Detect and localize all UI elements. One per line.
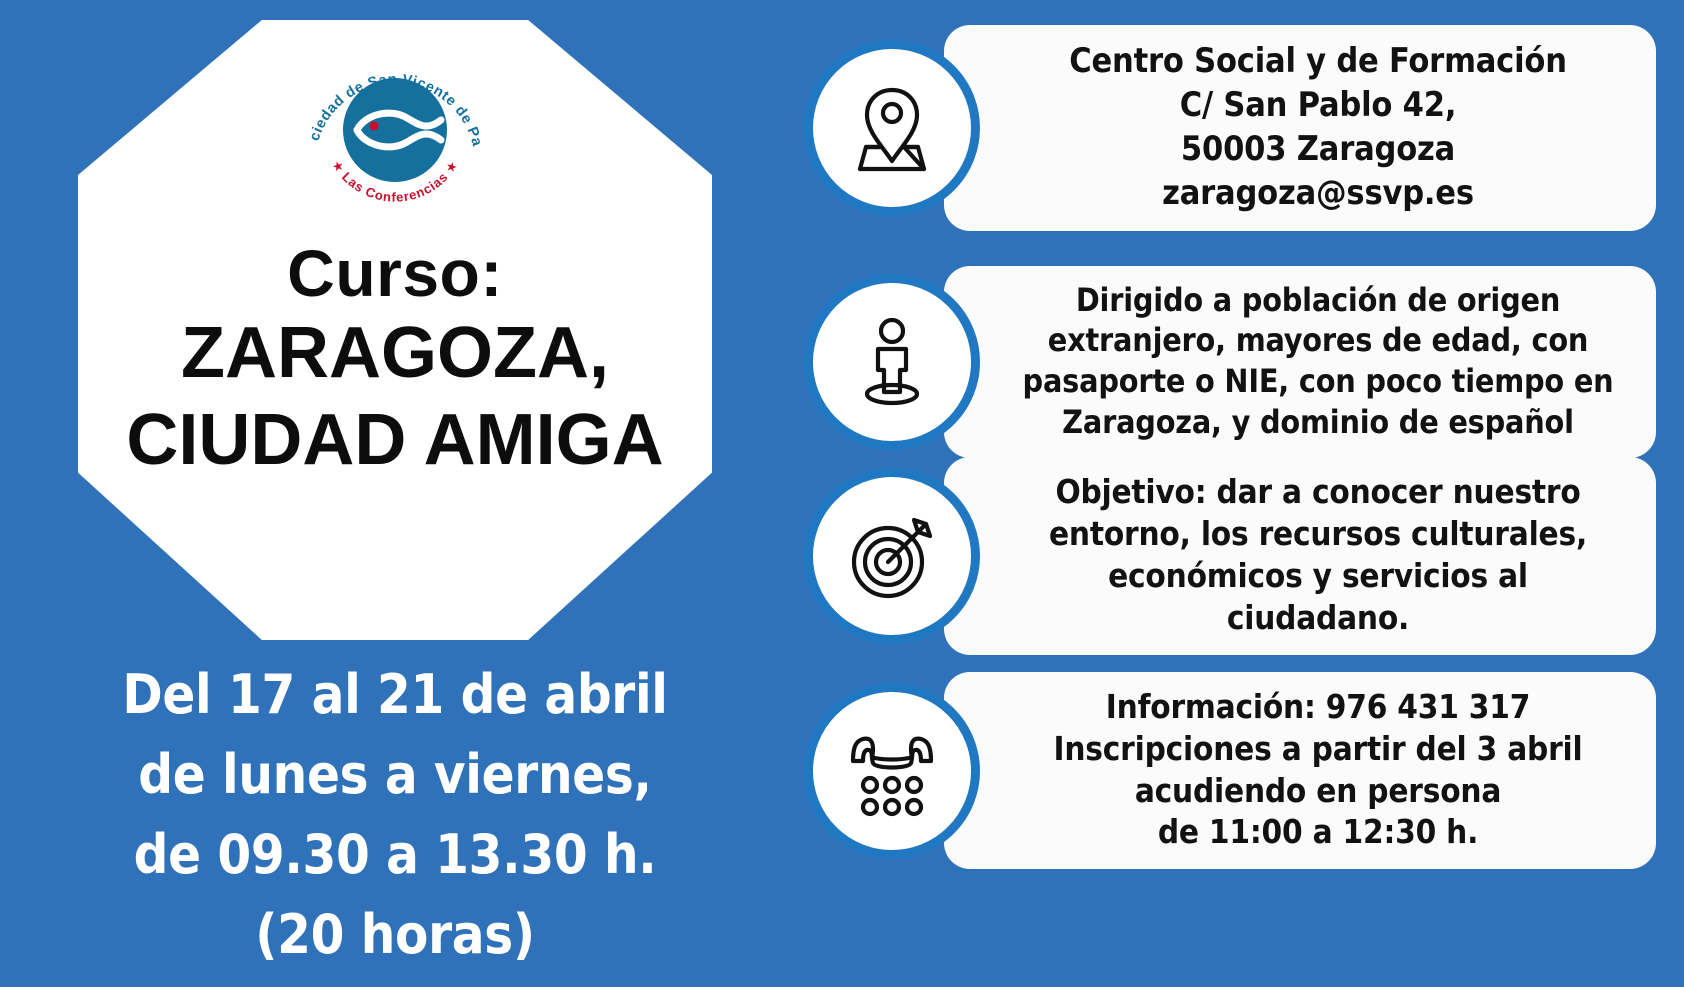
info-card-location: Centro Social y de Formación C/ San Pabl…	[944, 25, 1656, 232]
title-line-zaragoza: ZARAGOZA,	[78, 310, 712, 398]
info-row-audience: Dirigido a población de origen extranjer…	[790, 262, 1684, 462]
audience-line-3: pasaporte o NIE, con poco tiempo en	[1023, 361, 1614, 402]
left-panel: Sociedad de San Vicente de Paúl ★ Las Co…	[0, 0, 790, 987]
right-panel: Centro Social y de Formación C/ San Pabl…	[790, 0, 1684, 987]
phone-line-hours: de 11:00 a 12:30 h.	[1158, 811, 1478, 853]
schedule-line-days: de lunes a viernes,	[0, 735, 790, 815]
location-line-2: C/ San Pablo 42,	[1180, 83, 1457, 127]
location-line-1: Centro Social y de Formación	[1069, 39, 1567, 83]
location-line-3: 50003 Zaragoza	[1181, 127, 1455, 171]
octagon-title-card: Sociedad de San Vicente de Paúl ★ Las Co…	[78, 20, 712, 640]
objective-line-3: económicos y servicios al	[1108, 555, 1528, 597]
ssvp-logo-svg: Sociedad de San Vicente de Paúl ★ Las Co…	[295, 38, 495, 223]
poster-root: Sociedad de San Vicente de Paúl ★ Las Co…	[0, 0, 1684, 987]
person-icon-svg	[840, 310, 944, 414]
map-pin-icon	[804, 40, 980, 216]
phone-line-signup: Inscripciones a partir del 3 abril	[1054, 728, 1583, 770]
schedule-block: Del 17 al 21 de abril de lunes a viernes…	[0, 655, 790, 975]
info-row-objective: Objetivo: dar a conocer nuestro entorno,…	[790, 461, 1684, 651]
info-row-phone: Información: 976 431 317 Inscripciones a…	[790, 668, 1684, 873]
target-arrow-icon-svg	[840, 504, 944, 608]
fish-eye	[369, 121, 378, 130]
telephone-icon-svg	[837, 719, 947, 823]
objective-line-2: entorno, los recursos culturales,	[1049, 513, 1587, 555]
map-pin-icon-svg	[840, 76, 944, 180]
course-title: Curso: ZARAGOZA, CIUDAD AMIGA	[78, 237, 712, 485]
info-card-audience: Dirigido a población de origen extranjer…	[944, 266, 1656, 459]
telephone-icon	[804, 683, 980, 859]
schedule-line-dates: Del 17 al 21 de abril	[0, 655, 790, 735]
phone-line-in-person: acudiendo en persona	[1135, 770, 1501, 812]
info-card-phone: Información: 976 431 317 Inscripciones a…	[944, 672, 1656, 870]
objective-line-1: Objetivo: dar a conocer nuestro	[1055, 471, 1580, 513]
schedule-line-total: (20 horas)	[0, 895, 790, 975]
info-card-objective: Objetivo: dar a conocer nuestro entorno,…	[944, 457, 1656, 655]
objective-line-4: ciudadano.	[1227, 597, 1409, 639]
audience-line-2: extranjero, mayores de edad, con	[1048, 320, 1588, 361]
schedule-line-hours: de 09.30 a 13.30 h.	[0, 815, 790, 895]
phone-line-info[interactable]: Información: 976 431 317	[1106, 686, 1530, 728]
audience-line-4: Zaragoza, y dominio de español	[1062, 402, 1574, 443]
audience-line-1: Dirigido a población de origen	[1076, 280, 1560, 321]
title-line-curso: Curso:	[78, 237, 712, 310]
ssvp-logo: Sociedad de San Vicente de Paúl ★ Las Co…	[295, 38, 495, 223]
title-line-ciudad-amiga: CIUDAD AMIGA	[78, 397, 712, 485]
location-email[interactable]: zaragoza@ssvp.es	[1162, 171, 1474, 215]
target-arrow-icon	[804, 468, 980, 644]
info-row-location: Centro Social y de Formación C/ San Pabl…	[790, 28, 1684, 228]
person-icon	[804, 274, 980, 450]
